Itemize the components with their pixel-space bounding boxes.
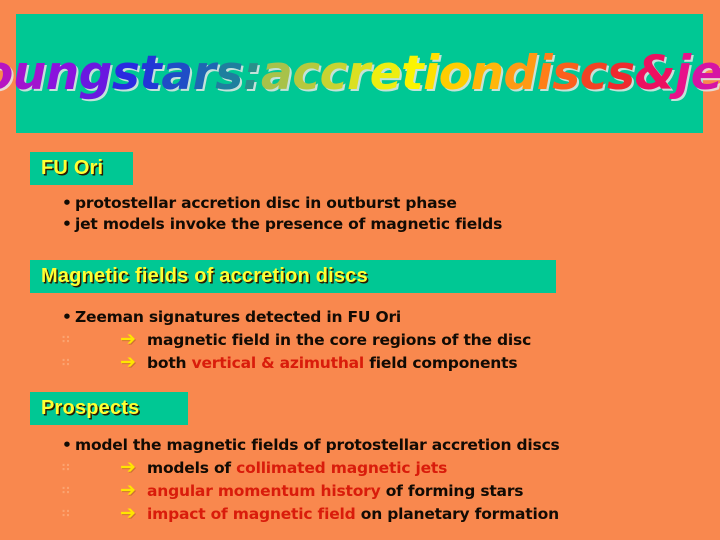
title-letter: t bbox=[139, 50, 161, 97]
bullet-item-level1: •protostellar accretion disc in outburst… bbox=[62, 194, 457, 212]
sub-bullet-text: impact of magnetic field on planetary fo… bbox=[147, 505, 559, 523]
title-letter: c bbox=[320, 50, 347, 97]
sub-bullet-marker-icon: ∷ bbox=[62, 509, 71, 518]
bullet-item-level1: •Zeeman signatures detected in FU Ori bbox=[62, 308, 401, 326]
highlighted-phrase: angular momentum history bbox=[147, 482, 381, 500]
highlighted-phrase: impact of magnetic field bbox=[147, 505, 356, 523]
title-letter: c bbox=[292, 50, 319, 97]
bullet-text: protostellar accretion disc in outburst … bbox=[75, 194, 457, 212]
bullet-dot-icon: • bbox=[62, 194, 75, 212]
title-letter: j bbox=[675, 50, 691, 97]
title-letter: n bbox=[46, 50, 79, 97]
title-letter: u bbox=[13, 50, 46, 97]
title-letter: r bbox=[193, 50, 216, 97]
sub-bullet-text: angular momentum history of forming star… bbox=[147, 482, 523, 500]
sub-bullet-marker-icon: ∷ bbox=[62, 358, 71, 367]
title-letter: i bbox=[537, 50, 553, 97]
title-letter: r bbox=[347, 50, 370, 97]
bullet-dot-icon: • bbox=[62, 215, 75, 233]
arrow-right-icon: ➔ bbox=[120, 458, 136, 476]
slide-title: Youngstars:accretiondiscs&jets bbox=[16, 14, 703, 133]
bullet-item-level1: •model the magnetic fields of protostell… bbox=[62, 436, 560, 454]
bullet-dot-icon: • bbox=[62, 436, 75, 454]
plain-phrase: field components bbox=[364, 354, 517, 372]
title-letter: c bbox=[580, 50, 607, 97]
presentation-slide: Youngstars:accretiondiscs&jets FU Ori Ma… bbox=[0, 0, 720, 540]
sub-bullet-text: models of collimated magnetic jets bbox=[147, 459, 447, 477]
title-letter: s bbox=[607, 50, 634, 97]
title-letter: & bbox=[635, 50, 676, 97]
title-letter: o bbox=[0, 50, 13, 97]
title-letter: g bbox=[79, 50, 112, 97]
plain-phrase: on planetary formation bbox=[356, 505, 559, 523]
sub-bullet-marker-icon: ∷ bbox=[62, 463, 71, 472]
plain-phrase: models of bbox=[147, 459, 236, 477]
title-letter: d bbox=[503, 50, 536, 97]
title-letter: o bbox=[439, 50, 471, 97]
title-letter: s bbox=[112, 50, 139, 97]
arrow-right-icon: ➔ bbox=[120, 481, 136, 499]
bullet-text: Zeeman signatures detected in FU Ori bbox=[75, 308, 401, 326]
plain-phrase: both bbox=[147, 354, 192, 372]
plain-phrase: magnetic field in the core regions of th… bbox=[147, 331, 531, 349]
sub-bullet-marker-icon: ∷ bbox=[62, 335, 71, 344]
section-heading-label: Magnetic fields of accretion discs bbox=[41, 265, 368, 288]
title-letter: e bbox=[370, 50, 401, 97]
arrow-right-icon: ➔ bbox=[120, 504, 136, 522]
arrow-right-icon: ➔ bbox=[120, 330, 136, 348]
sub-bullet-marker-icon: ∷ bbox=[62, 486, 71, 495]
highlighted-phrase: collimated magnetic jets bbox=[236, 459, 447, 477]
title-banner: Youngstars:accretiondiscs&jets bbox=[16, 14, 703, 133]
section-heading-label: Prospects bbox=[41, 397, 140, 420]
plain-phrase: of forming stars bbox=[381, 482, 524, 500]
section-heading-box-prospects: Prospects bbox=[30, 392, 188, 425]
title-letter: n bbox=[470, 50, 503, 97]
title-letter: s bbox=[552, 50, 579, 97]
title-letter: : bbox=[243, 50, 261, 97]
title-letter: t bbox=[401, 50, 423, 97]
bullet-item-level1: •jet models invoke the presence of magne… bbox=[62, 215, 502, 233]
bullet-text: jet models invoke the presence of magnet… bbox=[75, 215, 502, 233]
section-heading-box-fu-ori: FU Ori bbox=[30, 152, 133, 185]
title-letter: e bbox=[691, 50, 720, 97]
title-letter: a bbox=[261, 50, 292, 97]
sub-bullet-text: magnetic field in the core regions of th… bbox=[147, 331, 531, 349]
bullet-text: model the magnetic fields of protostella… bbox=[75, 436, 560, 454]
arrow-right-icon: ➔ bbox=[120, 353, 136, 371]
title-letter: s bbox=[215, 50, 242, 97]
bullet-dot-icon: • bbox=[62, 308, 75, 326]
section-heading-label: FU Ori bbox=[41, 157, 103, 180]
section-heading-box-magnetic-fields: Magnetic fields of accretion discs bbox=[30, 260, 556, 293]
sub-bullet-text: both vertical & azimuthal field componen… bbox=[147, 354, 517, 372]
title-letter: i bbox=[423, 50, 439, 97]
highlighted-phrase: vertical & azimuthal bbox=[192, 354, 364, 372]
title-letter: a bbox=[161, 50, 192, 97]
